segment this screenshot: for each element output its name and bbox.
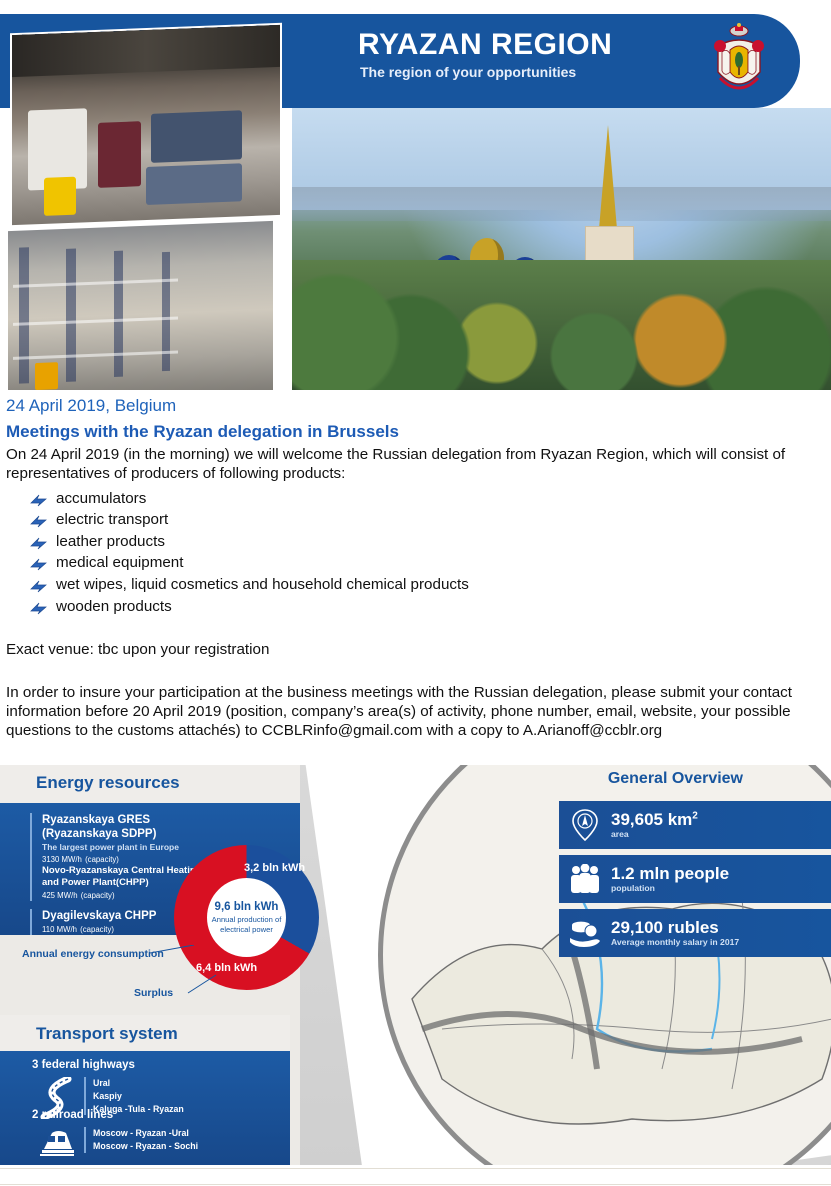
photo-fabric-stack: [146, 163, 242, 205]
overview-row-salary: 29,100 rubles Average monthly salary in …: [559, 909, 831, 957]
list-item-label: wet wipes, liquid cosmetics and househol…: [56, 576, 469, 593]
list-item-label: electric transport: [56, 511, 168, 528]
power-plant-item: Ryazanskaya GRES (Ryazanskaya SDPP) The …: [30, 813, 179, 865]
ryazan-coat-of-arms-icon: [708, 22, 770, 100]
blue-arrow-bullet-icon: [30, 492, 48, 505]
list-item: leather products: [30, 531, 831, 553]
blue-arrow-bullet-icon: [30, 578, 48, 591]
list-item: accumulators: [30, 488, 831, 510]
overview-text: 1.2 mln people population: [611, 865, 729, 893]
article-date-location: 24 April 2019, Belgium: [0, 392, 831, 416]
railroads-list: Moscow - Ryazan -Ural Moscow - Ryazan - …: [84, 1127, 198, 1153]
overview-value: 29,100 rubles: [611, 919, 739, 937]
power-plant-item: Dyagilevskaya CHPP 110 MW/h (capacity): [30, 909, 156, 935]
overview-text: 29,100 rubles Average monthly salary in …: [611, 919, 739, 947]
plant-capacity: 3130 MW/h (capacity): [42, 853, 179, 865]
photo-forklift: [35, 362, 59, 390]
blue-arrow-bullet-icon: [30, 556, 48, 569]
blue-arrow-bullet-icon: [30, 600, 48, 613]
plant-description: The largest power plant in Europe: [42, 842, 179, 853]
overview-row-area: 39,605 km2 area: [559, 801, 831, 849]
registration-paragraph: In order to insure your participation at…: [0, 682, 831, 741]
photo-rack: [114, 250, 123, 376]
overview-row-population: 1.2 mln people population: [559, 855, 831, 903]
donut-label-surplus-value: 3,2 bln kWh: [244, 862, 305, 874]
blue-arrow-bullet-icon: [30, 513, 48, 526]
railroads-heading: 2 railroad lines: [32, 1109, 113, 1121]
list-item: wet wipes, liquid cosmetics and househol…: [30, 574, 831, 596]
donut-leader-lines: [150, 945, 220, 1005]
donut-legend-consumption: Annual energy consumption: [22, 948, 164, 960]
overview-section-title: General Overview: [608, 770, 743, 788]
highway-item: Ural: [93, 1077, 184, 1090]
photo-textile-factory: [12, 25, 280, 225]
list-item-label: wooden products: [56, 598, 172, 615]
photo-shelf: [13, 350, 177, 359]
photo-yellow-bin: [44, 177, 76, 216]
overview-caption: population: [611, 883, 729, 893]
photo-shelf: [13, 316, 177, 325]
railroad-item: Moscow - Ryazan - Sochi: [93, 1140, 198, 1153]
railroad-item: Moscow - Ryazan -Ural: [93, 1127, 198, 1140]
photo-warehouse: [8, 221, 273, 390]
list-item-label: leather products: [56, 533, 165, 550]
plant-name: Dyagilevskaya CHPP: [42, 909, 156, 923]
donut-center-caption: Annual production of electrical power: [207, 915, 286, 934]
transport-section-title: Transport system: [36, 1024, 178, 1044]
product-list: accumulators electric transport leather …: [0, 488, 831, 617]
list-item: wooden products: [30, 596, 831, 618]
article-body: 24 April 2019, Belgium Meetings with the…: [0, 392, 831, 741]
venue-note: Exact venue: tbc upon your registration: [0, 639, 831, 660]
energy-section-title: Energy resources: [36, 773, 180, 793]
photo-rack: [66, 249, 75, 382]
plant-capacity: 110 MW/h (capacity): [42, 923, 156, 935]
page-subtitle: The region of your opportunities: [360, 64, 576, 80]
photo-trees: [292, 260, 831, 390]
highways-heading: 3 federal highways: [32, 1059, 135, 1071]
money-hand-icon: [559, 918, 611, 948]
plant-name-alt: (Ryazanskaya SDPP): [42, 827, 179, 841]
map-pin-icon: [559, 809, 611, 841]
overview-text: 39,605 km2 area: [611, 811, 698, 839]
photo-ceiling: [12, 25, 280, 77]
list-item: medical equipment: [30, 552, 831, 574]
overview-value: 39,605 km2: [611, 811, 698, 829]
overview-value: 1.2 mln people: [611, 865, 729, 883]
photo-skyline: [292, 187, 831, 221]
photo-fabric-stack: [151, 110, 242, 163]
highway-item: Kaspiy: [93, 1090, 184, 1103]
photo-rack: [19, 247, 30, 383]
list-item: electric transport: [30, 509, 831, 531]
people-icon: [559, 864, 611, 894]
article-intro-paragraph: On 24 April 2019 (in the morning) we wil…: [0, 444, 831, 484]
footer-divider-2: [0, 1184, 831, 1185]
footer-divider: [0, 1168, 831, 1169]
hero-banner: RYAZAN REGION The region of your opportu…: [0, 0, 831, 390]
transport-panel: 3 federal highways Ural Kaspiy Kaluga -T…: [0, 1051, 290, 1165]
photo-ryazan-kremlin: [292, 108, 831, 390]
plant-name: Ryazanskaya GRES: [42, 813, 179, 827]
photo-shelf: [13, 279, 177, 288]
photo-bell-tower-spire: [599, 125, 617, 229]
infographic-panel: Moscow Ryazan 183km MOSCOW RYAZAN Moskov…: [0, 765, 831, 1165]
list-item-label: medical equipment: [56, 554, 183, 571]
overview-caption: area: [611, 829, 698, 839]
page-title: RYAZAN REGION: [358, 28, 612, 62]
overview-caption: Average monthly salary in 2017: [611, 937, 739, 947]
list-item-label: accumulators: [56, 490, 146, 507]
donut-center-value: 9,6 bln kWh: [215, 901, 279, 913]
photo-worker: [98, 121, 141, 187]
blue-arrow-bullet-icon: [30, 535, 48, 548]
article-headline: Meetings with the Ryazan delegation in B…: [0, 416, 831, 444]
train-icon: [38, 1127, 76, 1157]
